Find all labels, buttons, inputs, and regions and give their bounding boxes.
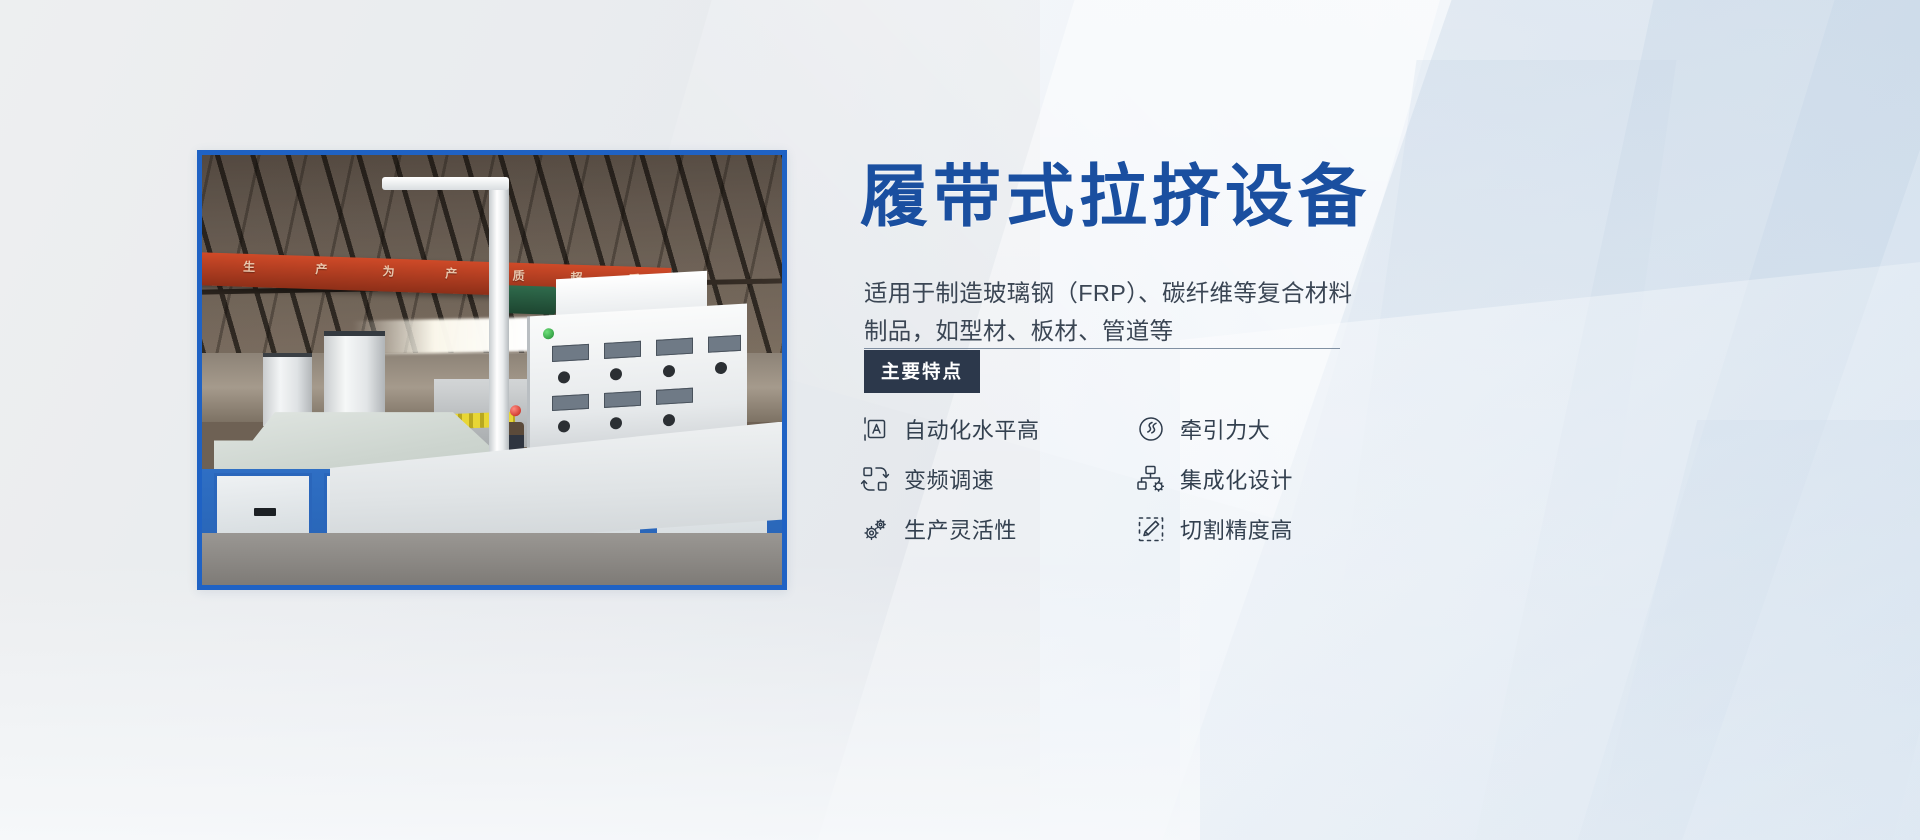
feature-label: 牵引力大 <box>1180 413 1270 445</box>
crane-char-1: 产 <box>315 260 330 277</box>
feature-label: 变频调速 <box>904 463 994 495</box>
feature-item-cutting[interactable]: 切割精度高 <box>1136 504 1412 553</box>
frequency-speed-icon <box>860 464 890 494</box>
photo-hoist <box>503 285 556 315</box>
photo-resin-silo-right <box>324 331 385 426</box>
crane-char-4: 质 <box>513 267 528 284</box>
feature-list: 自动化水平高 牵引力大 <box>860 404 1420 553</box>
feature-item-flexibility[interactable]: 生产灵活性 <box>860 504 1136 553</box>
feature-label: 自动化水平高 <box>904 413 1040 445</box>
integrated-design-icon <box>1136 464 1166 494</box>
hero-text-column: 履带式拉挤设备 适用于制造玻璃钢（FRP）、碳纤维等复合材料制品，如型材、板材、… <box>860 0 1920 840</box>
divider <box>864 348 1340 349</box>
crane-char-0: 生 <box>243 258 258 275</box>
gears-flexibility-icon <box>860 514 890 544</box>
feature-item-frequency[interactable]: 变频调速 <box>860 454 1136 503</box>
traction-force-icon <box>1136 414 1166 444</box>
product-hero-banner: 生 产 为 产 质 超 质 <box>0 0 1920 840</box>
page-subtitle: 适用于制造玻璃钢（FRP）、碳纤维等复合材料制品，如型材、板材、管道等 <box>864 274 1354 350</box>
feature-item-traction[interactable]: 牵引力大 <box>1136 404 1412 453</box>
page-title: 履带式拉挤设备 <box>860 163 1371 231</box>
feature-label: 生产灵活性 <box>904 513 1017 545</box>
feature-label: 集成化设计 <box>1180 463 1293 495</box>
photo-floor <box>202 533 782 585</box>
crane-char-3: 产 <box>445 265 460 282</box>
feature-item-automation[interactable]: 自动化水平高 <box>860 404 1136 453</box>
automation-a-icon <box>860 414 890 444</box>
cutting-precision-icon <box>1136 514 1166 544</box>
status-badge: 主要特点 <box>864 350 980 393</box>
product-photo[interactable]: 生 产 为 产 质 超 质 <box>197 150 787 590</box>
feature-item-integrated[interactable]: 集成化设计 <box>1136 454 1412 503</box>
crane-char-2: 为 <box>383 263 398 280</box>
feature-label: 切割精度高 <box>1180 513 1293 545</box>
photo-gantry-arm <box>382 177 510 191</box>
